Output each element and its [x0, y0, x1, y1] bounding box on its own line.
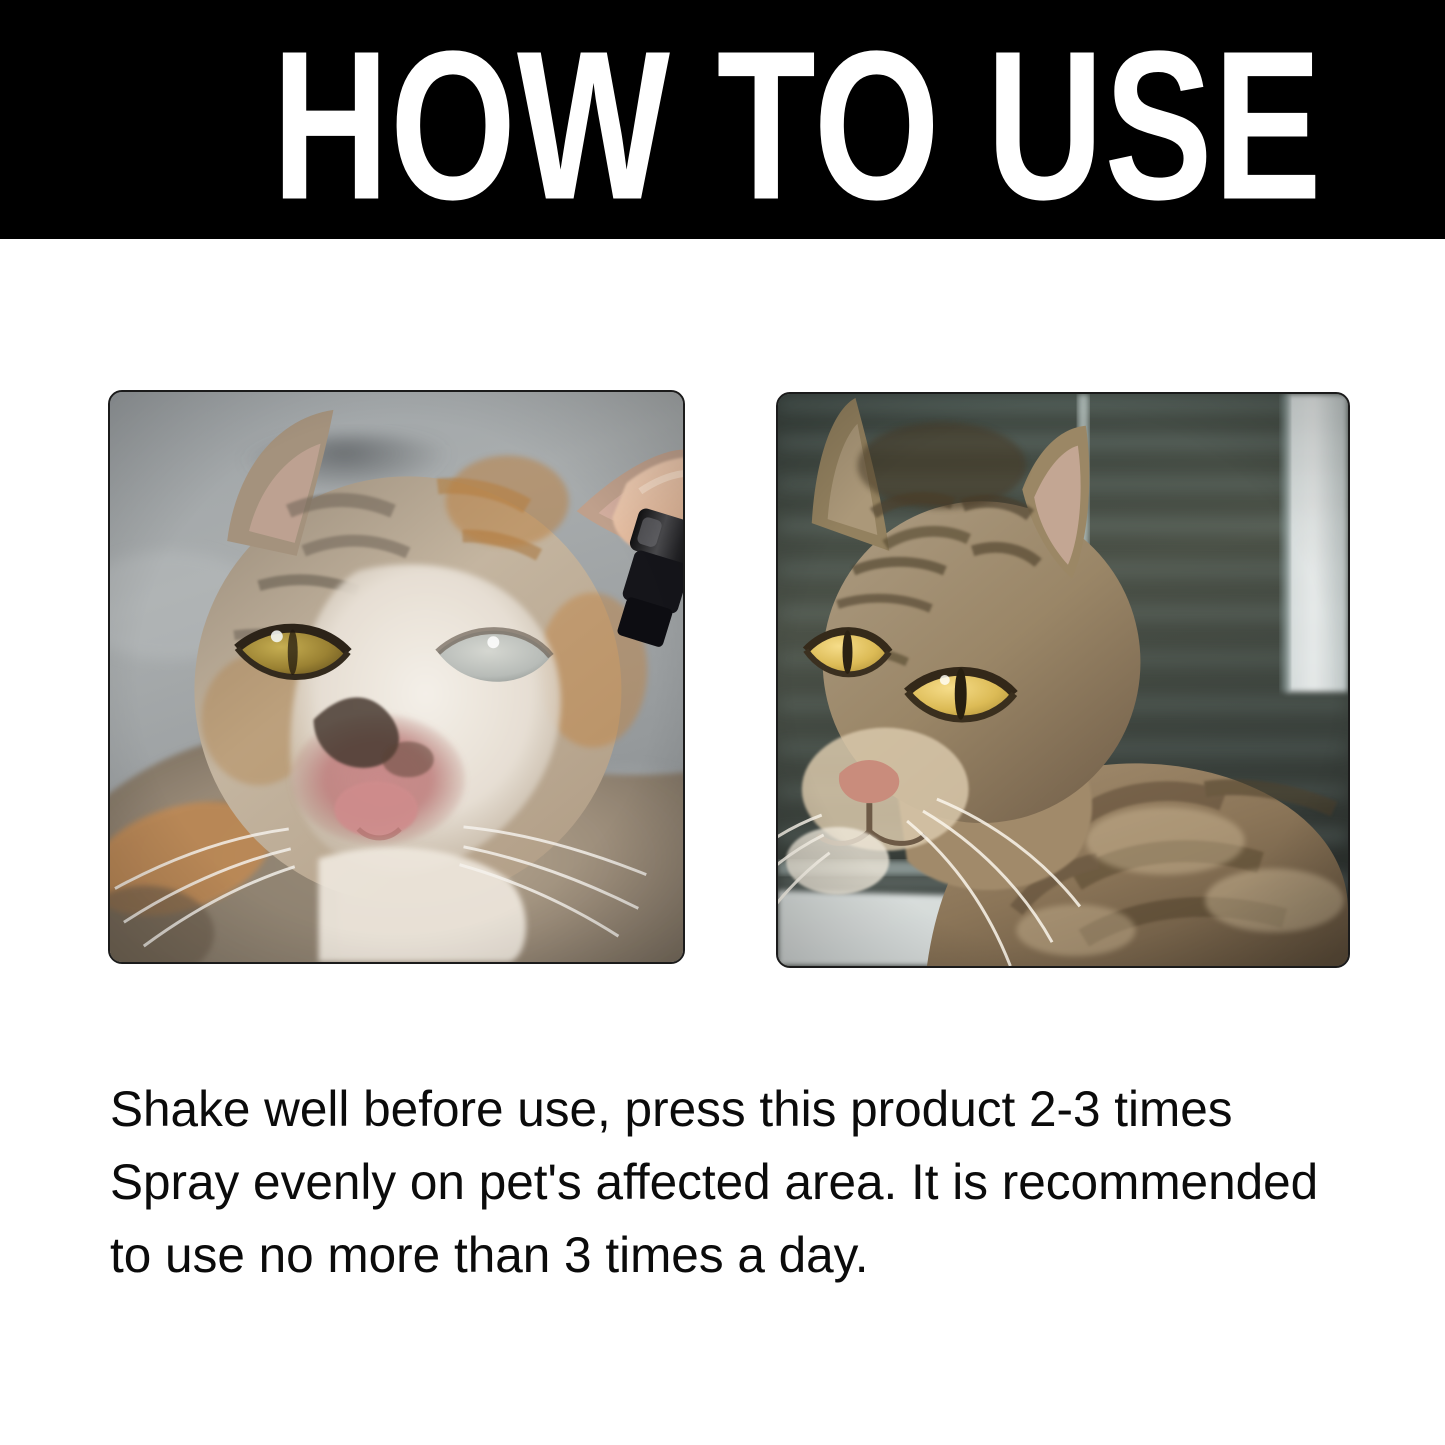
instruction-line-2: Spray evenly on pet's affected area. It …	[110, 1146, 1367, 1219]
after-photo-frame	[776, 392, 1350, 968]
instructions-block: Shake well before use, press this produc…	[110, 1073, 1380, 1292]
page-title: HOW TO USE	[272, 20, 1322, 232]
instruction-line-3: to use no more than 3 times a day.	[110, 1219, 1367, 1292]
photo-row	[0, 390, 1445, 970]
before-photo-frame	[108, 390, 685, 964]
header-banner: HOW TO USE	[0, 0, 1445, 239]
before-photo-image	[110, 392, 683, 962]
after-photo-image	[778, 394, 1348, 966]
instruction-line-1: Shake well before use, press this produc…	[110, 1073, 1367, 1146]
